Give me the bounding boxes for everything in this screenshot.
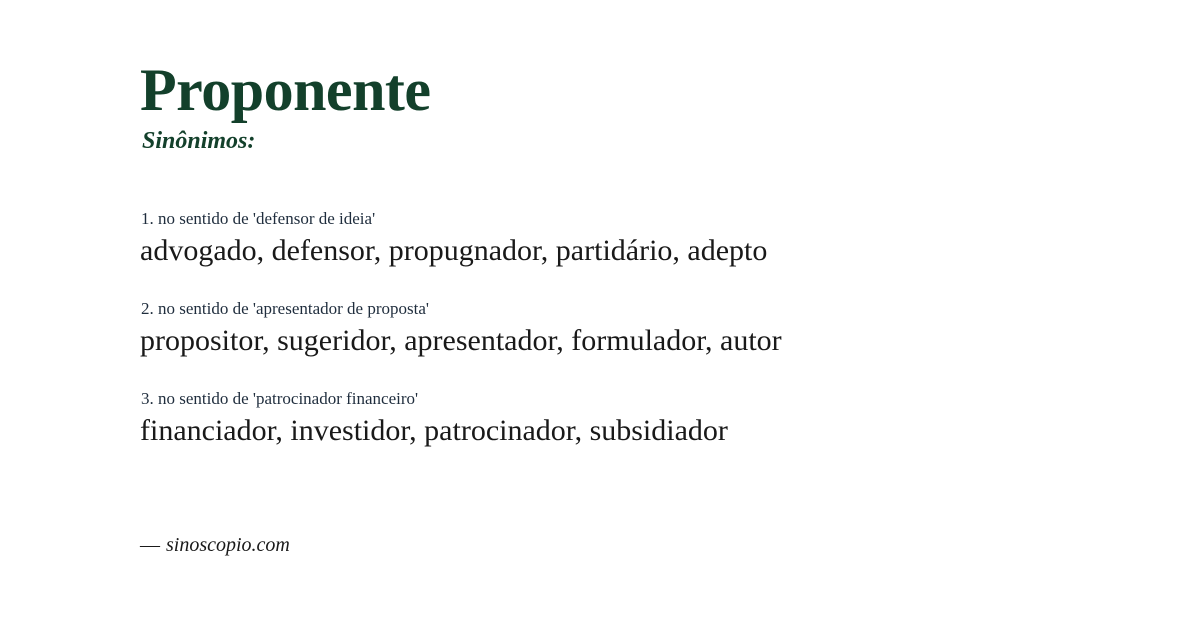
sense-words-2: propositor, sugeridor, apresentador, for…	[140, 322, 1160, 360]
card-footer: —sinoscopio.com	[140, 534, 290, 557]
subtitle-synonyms: Sinônimos:	[142, 127, 1140, 156]
sense-label-2: 2. no sentido de 'apresentador de propos…	[141, 298, 1160, 319]
page-title: Proponente	[140, 58, 1140, 123]
sense-words-3: financiador, investidor, patrocinador, s…	[140, 412, 1160, 450]
sense-label-3: 3. no sentido de 'patrocinador financeir…	[141, 388, 1160, 409]
em-dash-glyph: —	[140, 534, 160, 556]
sense-block-2: 2. no sentido de 'apresentador de propos…	[140, 298, 1160, 360]
synonym-card: Proponente Sinônimos: 1. no sentido de '…	[0, 0, 1200, 628]
sense-block-1: 1. no sentido de 'defensor de ideia' adv…	[140, 208, 1160, 270]
sense-label-1: 1. no sentido de 'defensor de ideia'	[141, 208, 1160, 229]
attribution: —sinoscopio.com	[140, 534, 290, 557]
sense-words-1: advogado, defensor, propugnador, partidá…	[140, 232, 1160, 270]
sense-block-3: 3. no sentido de 'patrocinador financeir…	[140, 388, 1160, 450]
card-header: Proponente Sinônimos:	[140, 58, 1140, 156]
source-site-name: sinoscopio.com	[166, 534, 290, 556]
sense-list: 1. no sentido de 'defensor de ideia' adv…	[140, 208, 1160, 449]
